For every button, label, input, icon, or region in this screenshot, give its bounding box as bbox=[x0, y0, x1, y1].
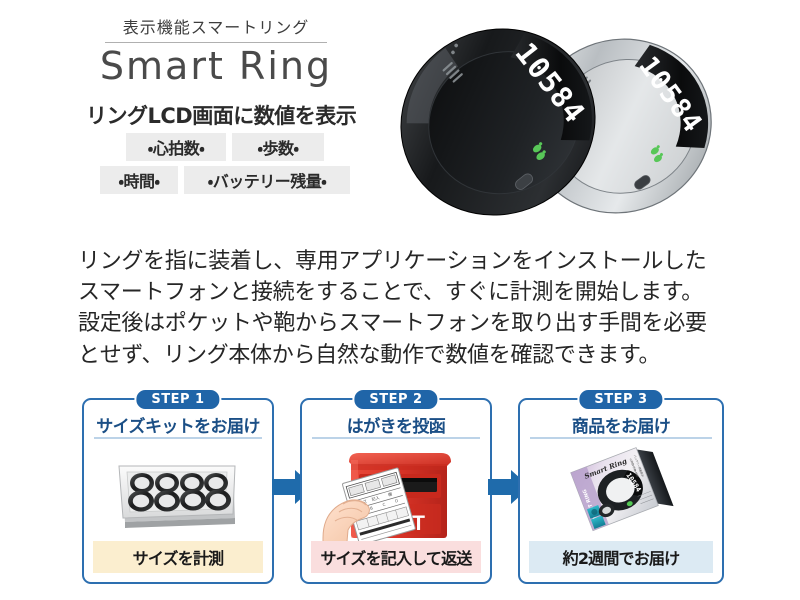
smart-ring-photo: 10584 bbox=[382, 18, 782, 240]
step-title-divider bbox=[94, 437, 262, 439]
description-line: とせず、リング本体から自然な動作で数値を確認できます。 bbox=[78, 340, 758, 371]
step-title-1: サイズキットをお届け bbox=[84, 412, 272, 437]
feature-tag-list: ・心拍数・ ・歩数・ ・時間・ ・バッテリー残量・ bbox=[90, 133, 360, 199]
description-line: 設定後はポケットや鞄からスマートフォンを取り出す手間を必要 bbox=[78, 308, 758, 339]
page-title: Smart Ring bbox=[86, 47, 346, 85]
step-title-2: はがきを投函 bbox=[302, 412, 490, 437]
step-title-divider bbox=[530, 437, 712, 439]
promo-page: 表示機能スマートリング Smart Ring リングLCD画面に数値を表示 ・心… bbox=[0, 0, 800, 600]
feature-tag-battery: ・バッテリー残量・ bbox=[184, 166, 350, 194]
description-paragraph: リングを指に装着し、専用アプリケーションをインストールした スマートフォンと接続… bbox=[78, 246, 758, 371]
feature-tag-steps: ・歩数・ bbox=[232, 133, 324, 161]
step-caption-1: サイズを計測 bbox=[93, 541, 263, 573]
step-caption-3: 約2週間でお届け bbox=[529, 541, 713, 573]
description-line: スマートフォンと接続をすることで、すぐに計測を開始します。 bbox=[78, 277, 758, 308]
eyebrow-text: 表示機能スマートリング bbox=[86, 14, 346, 38]
step-title-divider bbox=[312, 437, 480, 439]
feature-tag-row: ・時間・ ・バッテリー残量・ bbox=[90, 166, 360, 194]
step-panel-1: STEP 1 サイズキットをお届け bbox=[82, 398, 274, 584]
step-badge-2: STEP 2 bbox=[352, 388, 439, 411]
postbox-icon: ST bbox=[302, 444, 490, 540]
steps-section: STEP 1 サイズキットをお届け bbox=[82, 392, 730, 588]
step-panel-2: STEP 2 はがきを投函 bbox=[300, 398, 492, 584]
step-badge-1: STEP 1 bbox=[134, 388, 221, 411]
hero-section: 表示機能スマートリング Smart Ring リングLCD画面に数値を表示 ・心… bbox=[0, 0, 800, 240]
feature-tag-heartrate: ・心拍数・ bbox=[126, 133, 226, 161]
step-title-3: 商品をお届け bbox=[520, 412, 722, 437]
feature-tag-row: ・心拍数・ ・歩数・ bbox=[90, 133, 360, 161]
eyebrow-block: 表示機能スマートリング bbox=[86, 14, 346, 43]
hero-lead-text: リングLCD画面に数値を表示 bbox=[86, 100, 354, 130]
step-panel-3: STEP 3 商品をお届け bbox=[518, 398, 724, 584]
step-badge-3: STEP 3 bbox=[577, 388, 664, 411]
description-line: リングを指に装着し、専用アプリケーションをインストールした bbox=[78, 246, 758, 277]
product-box-icon: SMART RING Smart Ring bbox=[520, 444, 722, 540]
feature-tag-time: ・時間・ bbox=[100, 166, 178, 194]
ring-sizer-kit-icon bbox=[84, 444, 272, 540]
eyebrow-divider bbox=[105, 42, 327, 43]
step-caption-2: サイズを記入して返送 bbox=[311, 541, 481, 573]
